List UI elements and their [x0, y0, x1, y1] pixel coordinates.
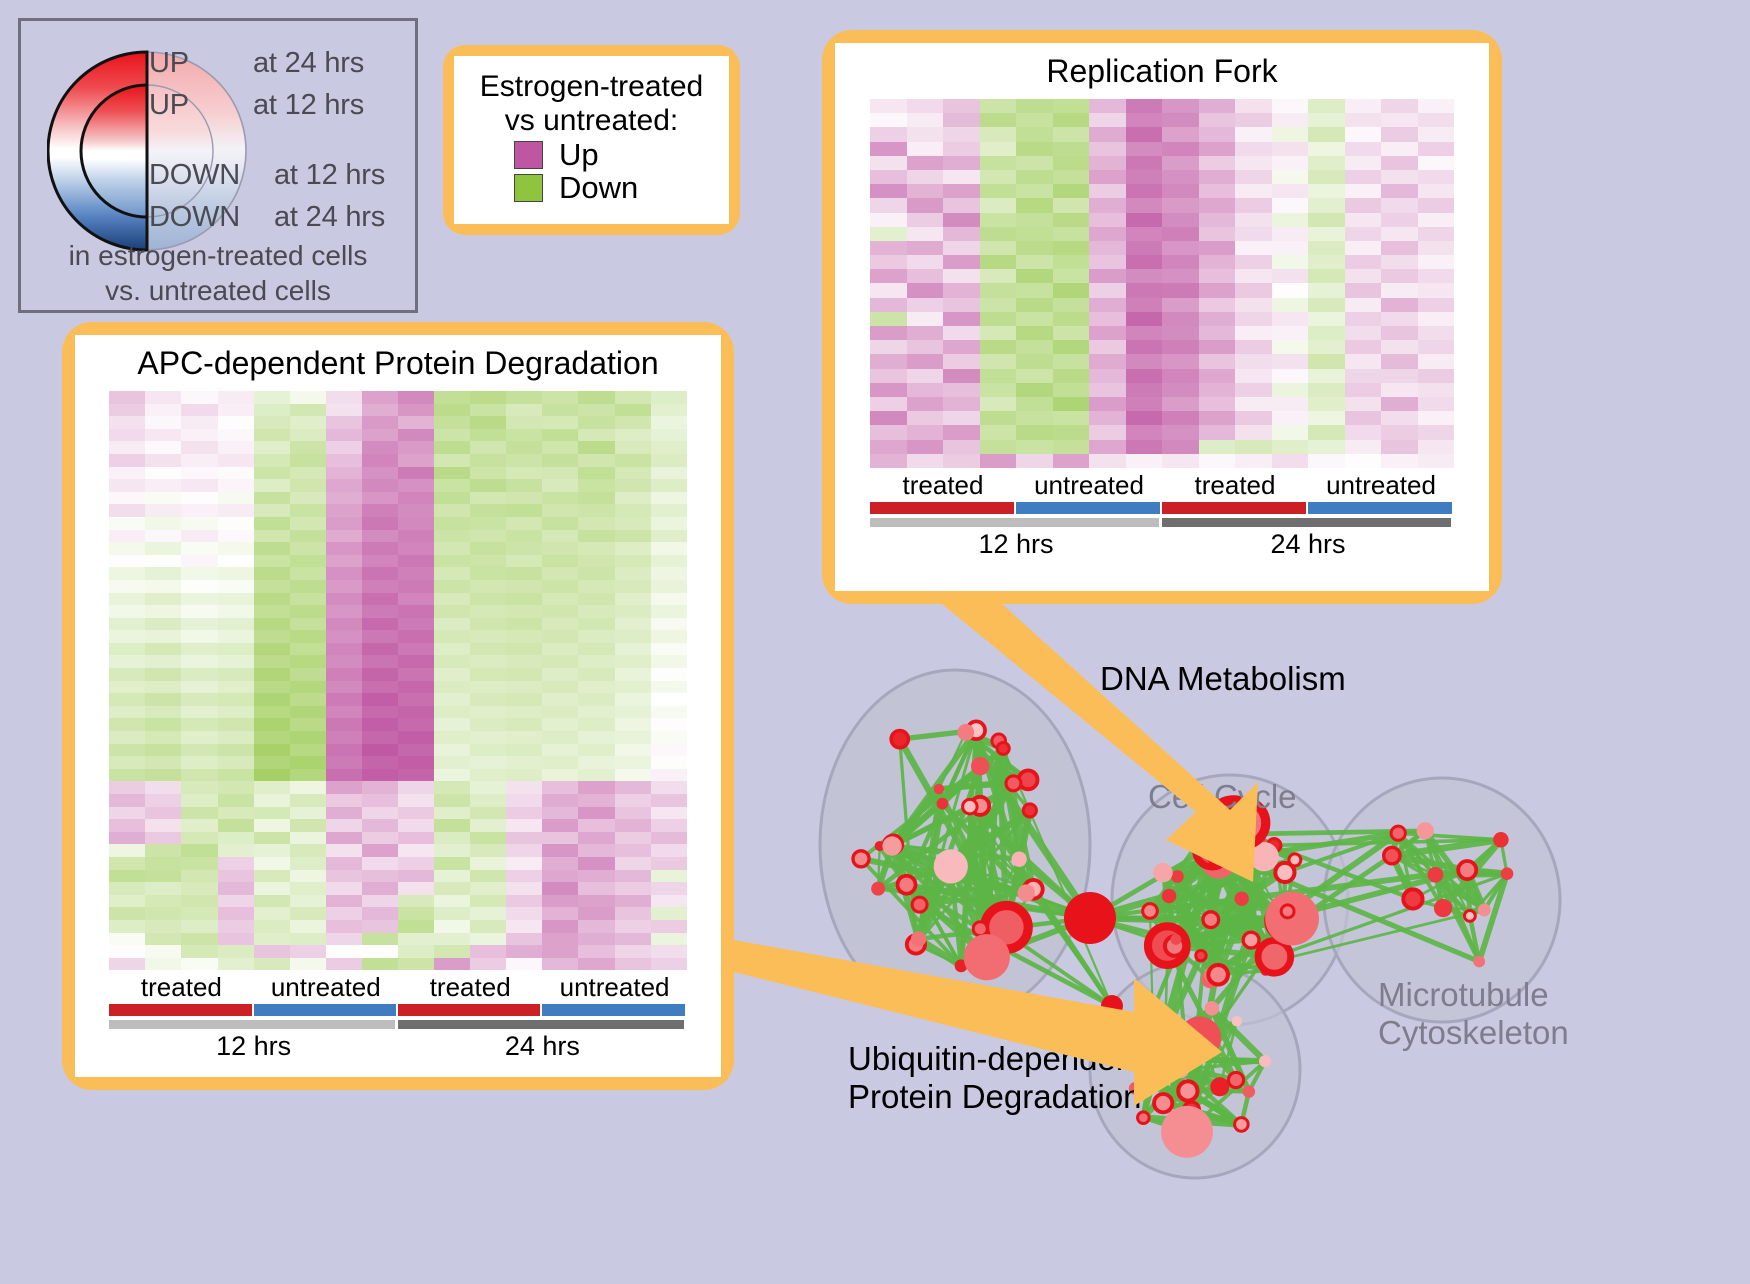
heatmap-cell	[398, 567, 434, 580]
heatmap-cell	[1016, 298, 1053, 312]
heatmap-cell	[615, 454, 651, 467]
heatmap-cell	[398, 454, 434, 467]
heatmap-cell	[290, 542, 326, 555]
network-node[interactable]	[934, 784, 944, 794]
network-node[interactable]	[1196, 950, 1206, 960]
heatmap-cell	[506, 542, 542, 555]
network-node[interactable]	[1178, 1016, 1221, 1059]
heatmap-cell	[1199, 142, 1236, 156]
heatmap-cell	[943, 142, 980, 156]
heatmap-cell	[542, 404, 578, 417]
heatmap-cell	[1272, 298, 1309, 312]
heatmap-cell	[1089, 454, 1126, 468]
network-node[interactable]	[882, 836, 901, 855]
heatmap-cell	[470, 567, 506, 580]
network-node[interactable]	[1172, 1061, 1189, 1078]
network-node[interactable]	[1143, 904, 1158, 919]
network-node[interactable]	[1473, 956, 1485, 968]
heatmap-cell	[907, 113, 944, 127]
heatmap-cell	[145, 857, 181, 870]
heatmap-cell	[362, 870, 398, 883]
network-node[interactable]	[1235, 1118, 1249, 1132]
heatmap-cell	[1418, 255, 1455, 269]
network-node[interactable]	[1428, 867, 1444, 883]
heatmap-cell	[651, 794, 687, 807]
heatmap-cell	[1162, 127, 1199, 141]
heatmap-cell	[254, 504, 290, 517]
network-node[interactable]	[897, 876, 915, 894]
heatmap-cell	[870, 99, 907, 113]
network-node[interactable]	[1275, 863, 1294, 882]
heatmap-cell	[578, 807, 614, 820]
heatmap-cell	[290, 920, 326, 933]
heatmap-cell	[109, 504, 145, 517]
heatmap-cell	[542, 416, 578, 429]
heatmap-cell	[145, 706, 181, 719]
heatmap-cell	[181, 907, 217, 920]
heatmap-cell	[980, 170, 1017, 184]
heatmap-cell	[434, 416, 470, 429]
replication-fork-panel: Replication Fork treateduntreatedtreated…	[822, 30, 1502, 604]
heatmap-cell	[615, 895, 651, 908]
heatmap-row	[870, 340, 1454, 354]
heatmap-cell	[145, 693, 181, 706]
heatmap-cell	[1308, 397, 1345, 411]
heatmap-cell	[1418, 113, 1455, 127]
heatmap-cell	[615, 391, 651, 404]
heatmap-cell	[1235, 213, 1272, 227]
network-node[interactable]	[1023, 804, 1036, 817]
heatmap-cell	[907, 354, 944, 368]
heatmap-cell	[1089, 255, 1126, 269]
network-node[interactable]	[1235, 892, 1249, 906]
heatmap-cell	[145, 416, 181, 429]
heatmap-cell	[615, 441, 651, 454]
heatmap-cell	[326, 429, 362, 442]
heatmap-cell	[870, 142, 907, 156]
heatmap-cell	[326, 794, 362, 807]
heatmap-row	[870, 312, 1454, 326]
heatmap-cell	[542, 467, 578, 480]
timepoint-label-0: 12 hrs	[870, 529, 1162, 560]
heatmap-cell	[542, 718, 578, 731]
network-node[interactable]	[1258, 940, 1291, 973]
heatmap-cell	[470, 794, 506, 807]
heatmap-cell	[1199, 255, 1236, 269]
heatmap-cell	[542, 441, 578, 454]
heatmap-cell	[254, 429, 290, 442]
network-node[interactable]	[1464, 910, 1475, 921]
network-node[interactable]	[957, 724, 974, 741]
heatmap-cell	[326, 958, 362, 971]
heatmap-cell	[434, 618, 470, 631]
heatmap-cell	[578, 718, 614, 731]
heatmap-cell	[578, 517, 614, 530]
heatmap-cell	[218, 706, 254, 719]
heatmap-cell	[943, 227, 980, 241]
heatmap-cell	[870, 354, 907, 368]
network-node[interactable]	[1208, 965, 1228, 985]
network-node[interactable]	[1154, 1094, 1172, 1112]
heatmap-cell	[326, 807, 362, 820]
cluster-label-ubiquitin-line2: Protein Degradation	[848, 1078, 1143, 1116]
heatmap-cell	[1053, 170, 1090, 184]
network-node[interactable]	[1478, 903, 1491, 916]
heatmap-cell	[943, 184, 980, 198]
heatmap-cell	[651, 429, 687, 442]
heatmap-cell	[615, 794, 651, 807]
heatmap-cell	[181, 958, 217, 971]
heatmap-cell	[362, 593, 398, 606]
network-node[interactable]	[891, 731, 908, 748]
heatmap-cell	[578, 681, 614, 694]
heatmap-cell	[398, 958, 434, 971]
pathway-network-graph: DNA Metabolism Cell Cycle Microtubule Cy…	[760, 600, 1750, 1279]
heatmap-cell	[980, 184, 1017, 198]
group-label-untreated-1: untreated	[254, 972, 398, 1003]
heatmap-cell	[1126, 241, 1163, 255]
heatmap-cell	[506, 517, 542, 530]
heatmap-cell	[578, 580, 614, 593]
heatmap-cell	[1345, 170, 1382, 184]
heatmap-cell	[1199, 227, 1236, 241]
network-node[interactable]	[1064, 892, 1116, 944]
network-node[interactable]	[1210, 1077, 1229, 1096]
heatmap-cell	[1162, 170, 1199, 184]
heatmap-cell	[290, 416, 326, 429]
network-node[interactable]	[1243, 932, 1259, 948]
network-node[interactable]	[1391, 826, 1405, 840]
heatmap-cell	[145, 819, 181, 832]
heatmap-cell	[578, 567, 614, 580]
heatmap-cell	[218, 681, 254, 694]
network-node[interactable]	[911, 931, 926, 946]
network-node[interactable]	[1417, 822, 1434, 839]
heatmap-cell	[1235, 198, 1272, 212]
heatmap-cell	[1199, 440, 1236, 454]
heatmap-cell	[578, 593, 614, 606]
heatmap-cell	[1016, 397, 1053, 411]
heatmap-cell	[578, 945, 614, 958]
heatmap-cell	[181, 530, 217, 543]
heatmap-row	[109, 781, 687, 794]
heatmap-cell	[506, 769, 542, 782]
group-label-untreated-1: untreated	[1016, 470, 1162, 501]
heatmap-cell	[542, 504, 578, 517]
heatmap-cell	[506, 945, 542, 958]
heatmap-cell	[254, 706, 290, 719]
heatmap-cell	[290, 844, 326, 857]
heatmap-cell	[290, 605, 326, 618]
heatmap-cell	[542, 832, 578, 845]
heatmap-cell	[651, 781, 687, 794]
heatmap-cell	[218, 555, 254, 568]
heatmap-cell	[470, 857, 506, 870]
heatmap-cell	[651, 907, 687, 920]
heatmap-cell	[578, 769, 614, 782]
network-node[interactable]	[1171, 870, 1184, 883]
heatmap-cell	[870, 383, 907, 397]
heatmap-cell	[651, 618, 687, 631]
network-node[interactable]	[1018, 884, 1035, 901]
heatmap-cell	[145, 668, 181, 681]
heatmap-cell	[290, 429, 326, 442]
heatmap-cell	[1089, 213, 1126, 227]
heatmap-cell	[651, 643, 687, 656]
heatmap-cell	[181, 832, 217, 845]
heatmap-cell	[254, 567, 290, 580]
heatmap-cell	[470, 668, 506, 681]
heatmap-cell	[470, 756, 506, 769]
heatmap-cell	[1308, 113, 1345, 127]
heatmap-cell	[578, 391, 614, 404]
network-node[interactable]	[1011, 851, 1026, 866]
heatmap-cell	[1016, 113, 1053, 127]
heatmap-cell	[615, 945, 651, 958]
figure-root: UP at 24 hrs UP at 12 hrs DOWN at 12 hrs…	[0, 0, 1750, 1279]
color-key-legend: UP at 24 hrs UP at 12 hrs DOWN at 12 hrs…	[18, 18, 418, 313]
network-node[interactable]	[1493, 832, 1509, 848]
heatmap-cell	[1272, 283, 1309, 297]
heatmap-row	[109, 643, 687, 656]
cluster-label-cell-cycle: Cell Cycle	[1148, 778, 1297, 816]
network-node[interactable]	[1161, 1106, 1213, 1158]
heatmap-cell	[470, 693, 506, 706]
heatmap-cell	[578, 530, 614, 543]
heatmap-cell	[145, 907, 181, 920]
heatmap-cell	[326, 479, 362, 492]
heatmap-cell	[1162, 142, 1199, 156]
heatmap-cell	[1418, 184, 1455, 198]
heatmap-cell	[1345, 99, 1382, 113]
heatmap-cell	[542, 530, 578, 543]
heatmap-cell	[542, 643, 578, 656]
heatmap-cell	[651, 404, 687, 417]
heatmap-cell	[290, 467, 326, 480]
heatmap-cell	[1016, 283, 1053, 297]
heatmap-cell	[470, 630, 506, 643]
network-node[interactable]	[1384, 847, 1400, 863]
heatmap-cell	[1053, 213, 1090, 227]
network-node[interactable]	[1265, 892, 1319, 946]
heatmap-cell	[470, 454, 506, 467]
heatmap-cell	[615, 706, 651, 719]
heatmap-cell	[290, 744, 326, 757]
heatmap-row	[109, 441, 687, 454]
heatmap-cell	[651, 492, 687, 505]
network-node[interactable]	[1162, 889, 1177, 904]
network-node[interactable]	[1403, 889, 1422, 908]
heatmap-cell	[1235, 170, 1272, 184]
heatmap-cell	[1418, 269, 1455, 283]
network-node[interactable]	[1006, 776, 1021, 791]
heatmap-cell	[470, 958, 506, 971]
network-node[interactable]	[1149, 1053, 1159, 1063]
heatmap-cell	[1345, 184, 1382, 198]
heatmap-cell	[181, 933, 217, 946]
heatmap-cell	[326, 416, 362, 429]
replication-fork-card-inner: Replication Fork treateduntreatedtreated…	[835, 43, 1489, 591]
heatmap-cell	[218, 567, 254, 580]
heatmap-cell	[1418, 383, 1455, 397]
heatmap-cell	[578, 907, 614, 920]
heatmap-row	[109, 391, 687, 404]
heatmap-cell	[615, 530, 651, 543]
heatmap-cell	[326, 504, 362, 517]
heatmap-cell	[1016, 312, 1053, 326]
heatmap-cell	[181, 945, 217, 958]
heatmap-cell	[1199, 170, 1236, 184]
heatmap-cell	[1272, 127, 1309, 141]
heatmap-cell	[362, 530, 398, 543]
heatmap-cell	[651, 870, 687, 883]
network-node[interactable]	[1203, 912, 1219, 928]
heatmap-cell	[943, 397, 980, 411]
network-node[interactable]	[1259, 1055, 1271, 1067]
heatmap-cell	[218, 655, 254, 668]
network-node[interactable]	[973, 922, 987, 936]
heatmap-cell	[578, 706, 614, 719]
heatmap-cell	[1053, 198, 1090, 212]
replication-fork-title: Replication Fork	[1046, 53, 1277, 90]
heatmap-cell	[1272, 454, 1309, 468]
heatmap-cell	[398, 756, 434, 769]
heatmap-cell	[1199, 383, 1236, 397]
heatmap-cell	[1089, 411, 1126, 425]
heatmap-cell	[470, 416, 506, 429]
heatmap-cell	[290, 718, 326, 731]
network-node[interactable]	[1501, 867, 1514, 880]
heatmap-row	[109, 479, 687, 492]
network-node[interactable]	[1205, 1001, 1220, 1016]
network-node[interactable]	[1228, 1072, 1243, 1087]
heatmap-cell	[1418, 425, 1455, 439]
network-node[interactable]	[971, 757, 989, 775]
heatmap-cell	[943, 340, 980, 354]
network-node[interactable]	[1208, 846, 1227, 865]
heatmap-cell	[1381, 213, 1418, 227]
heatmap-cell	[434, 807, 470, 820]
heatmap-cell	[362, 643, 398, 656]
heatmap-cell	[1053, 425, 1090, 439]
heatmap-cell	[907, 241, 944, 255]
heatmap-cell	[181, 605, 217, 618]
network-node[interactable]	[1153, 863, 1173, 883]
network-node[interactable]	[997, 742, 1009, 754]
heatmap-row	[109, 517, 687, 530]
heatmap-cell	[145, 504, 181, 517]
heatmap-cell	[1418, 170, 1455, 184]
network-node[interactable]	[934, 849, 968, 883]
heatmap-cell	[145, 958, 181, 971]
heatmap-cell	[1199, 127, 1236, 141]
heatmap-cell	[943, 411, 980, 425]
heatmap-cell	[943, 170, 980, 184]
color-key-row-2-label: DOWN	[149, 159, 240, 192]
heatmap-cell	[109, 945, 145, 958]
group-bar-treated-0	[109, 1004, 251, 1016]
heatmap-cell	[398, 920, 434, 933]
heatmap-cell	[1235, 340, 1272, 354]
heatmap-cell	[1272, 142, 1309, 156]
heatmap-row	[109, 933, 687, 946]
heatmap-cell	[181, 756, 217, 769]
heatmap-cell	[651, 580, 687, 593]
up-down-legend-card: Estrogen-treated vs untreated: Up Down	[443, 45, 740, 235]
heatmap-cell	[1235, 241, 1272, 255]
heatmap-cell	[1089, 354, 1126, 368]
heatmap-cell	[470, 882, 506, 895]
heatmap-cell	[218, 857, 254, 870]
heatmap-cell	[398, 391, 434, 404]
heatmap-cell	[651, 769, 687, 782]
up-down-legend-title-line2: vs untreated:	[466, 104, 717, 138]
heatmap-cell	[398, 492, 434, 505]
group-bar-untreated-3	[542, 1004, 684, 1016]
heatmap-cell	[1199, 269, 1236, 283]
heatmap-cell	[218, 668, 254, 681]
network-node[interactable]	[937, 798, 949, 810]
heatmap-cell	[1381, 198, 1418, 212]
heatmap-cell	[1345, 156, 1382, 170]
network-node[interactable]	[1243, 1085, 1256, 1098]
heatmap-cell	[980, 213, 1017, 227]
heatmap-cell	[109, 693, 145, 706]
heatmap-cell	[542, 630, 578, 643]
heatmap-cell	[181, 819, 217, 832]
heatmap-cell	[506, 454, 542, 467]
network-node[interactable]	[871, 882, 885, 896]
heatmap-cell	[362, 706, 398, 719]
heatmap-cell	[1308, 213, 1345, 227]
heatmap-cell	[651, 718, 687, 731]
heatmap-cell	[1308, 127, 1345, 141]
network-node[interactable]	[1178, 1081, 1197, 1100]
heatmap-row	[870, 227, 1454, 241]
heatmap-cell	[578, 605, 614, 618]
network-node[interactable]	[912, 897, 927, 912]
heatmap-cell	[651, 958, 687, 971]
network-node[interactable]	[1281, 905, 1294, 918]
group-bar-treated-2	[1162, 502, 1306, 514]
network-node[interactable]	[1195, 826, 1212, 843]
network-node[interactable]	[853, 851, 869, 867]
heatmap-cell	[1272, 369, 1309, 383]
heatmap-cell	[181, 467, 217, 480]
network-node[interactable]	[1232, 1016, 1243, 1027]
heatmap-cell	[578, 832, 614, 845]
heatmap-cell	[1272, 340, 1309, 354]
heatmap-cell	[615, 655, 651, 668]
heatmap-cell	[1053, 283, 1090, 297]
network-node[interactable]	[963, 799, 977, 813]
network-node[interactable]	[1101, 995, 1123, 1017]
heatmap-cell	[181, 920, 217, 933]
heatmap-cell	[1016, 241, 1053, 255]
heatmap-cell	[434, 832, 470, 845]
heatmap-cell	[218, 718, 254, 731]
network-node[interactable]	[1171, 934, 1182, 945]
network-node[interactable]	[1458, 861, 1476, 879]
heatmap-cell	[109, 605, 145, 618]
group-bar-untreated-3	[1308, 502, 1452, 514]
network-node[interactable]	[964, 934, 1010, 980]
heatmap-cell	[181, 844, 217, 857]
heatmap-cell	[254, 870, 290, 883]
network-node[interactable]	[1434, 899, 1452, 917]
heatmap-cell	[870, 269, 907, 283]
heatmap-cell	[434, 718, 470, 731]
